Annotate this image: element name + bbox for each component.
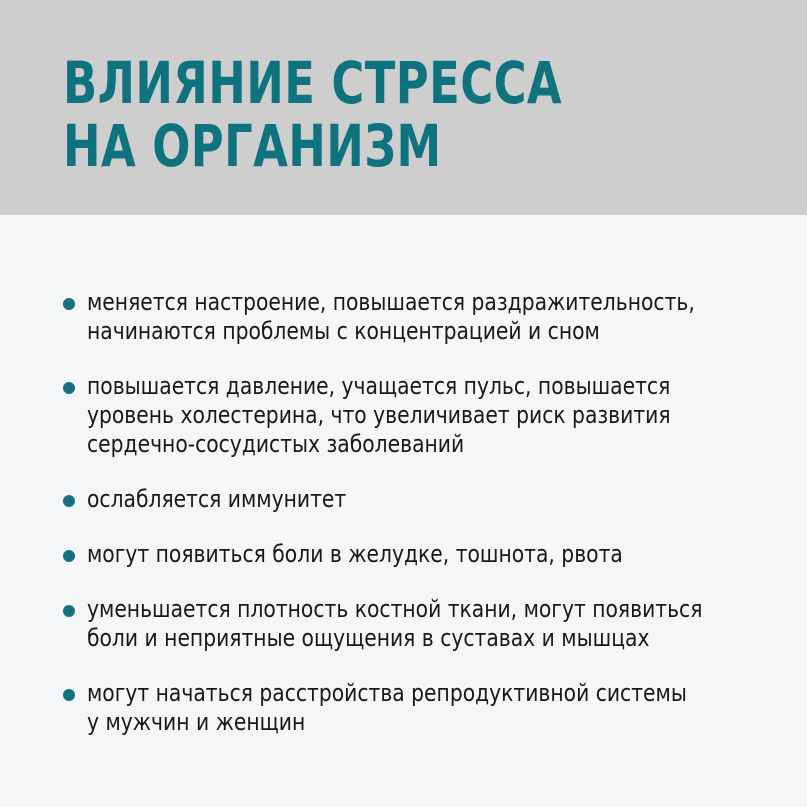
bullet-dot-icon	[63, 298, 75, 310]
bullet-dot-icon	[63, 382, 75, 394]
list-item-label: могут начаться расстройства репродуктивн…	[87, 679, 707, 737]
header-band: ВЛИЯНИЕ СТРЕССА НА ОРГАНИЗМ	[0, 0, 807, 215]
list-item-label: меняется настроение, повышается раздражи…	[87, 288, 707, 346]
list-item-label: ослабляется иммунитет	[87, 485, 707, 514]
list-item: уменьшается плотность костной ткани, мог…	[63, 595, 747, 653]
bullet-dot-icon	[63, 605, 75, 617]
stress-effects-list: меняется настроение, повышается раздражи…	[63, 288, 747, 737]
list-item: меняется настроение, повышается раздражи…	[63, 288, 747, 346]
list-item: могут появиться боли в желудке, тошнота,…	[63, 540, 747, 569]
bullet-dot-icon	[63, 689, 75, 701]
bullet-dot-icon	[63, 550, 75, 562]
body-area: меняется настроение, повышается раздражи…	[0, 215, 807, 807]
list-item: могут начаться расстройства репродуктивн…	[63, 679, 747, 737]
list-item-label: повышается давление, учащается пульс, по…	[87, 372, 707, 459]
title-line-2: НА ОРГАНИЗМ	[63, 115, 703, 178]
bullet-dot-icon	[63, 495, 75, 507]
list-item: ослабляется иммунитет	[63, 485, 747, 514]
list-item: повышается давление, учащается пульс, по…	[63, 372, 747, 459]
page-title: ВЛИЯНИЕ СТРЕССА НА ОРГАНИЗМ	[63, 52, 807, 178]
title-line-1: ВЛИЯНИЕ СТРЕССА	[63, 52, 703, 115]
infographic-card: ВЛИЯНИЕ СТРЕССА НА ОРГАНИЗМ меняется нас…	[0, 0, 807, 807]
list-item-label: уменьшается плотность костной ткани, мог…	[87, 595, 707, 653]
list-item-label: могут появиться боли в желудке, тошнота,…	[87, 540, 707, 569]
